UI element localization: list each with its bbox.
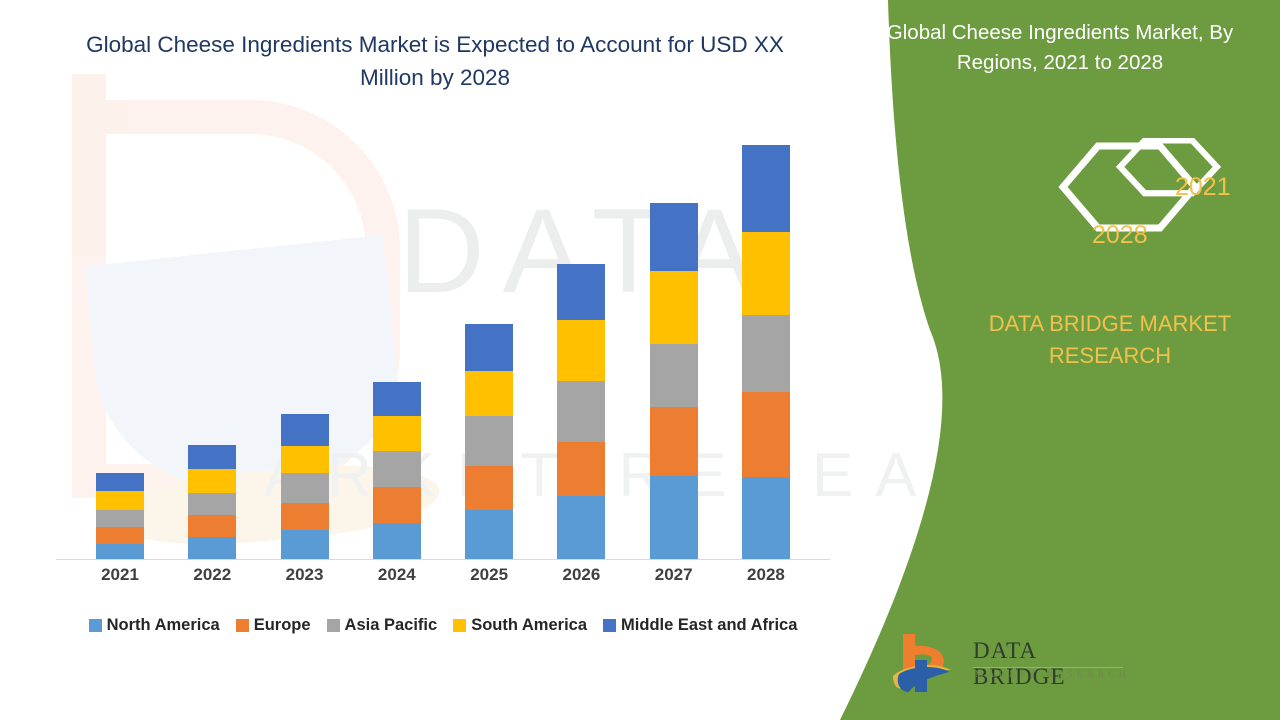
legend-label: Europe: [254, 616, 311, 635]
logo-subtitle: MARKET RESEARCH: [975, 670, 1130, 680]
bar-segment[interactable]: [281, 473, 329, 503]
bar-segment[interactable]: [373, 416, 421, 452]
x-axis-labels: 20212022202320242025202620272028: [48, 565, 838, 585]
bar-segment[interactable]: [465, 510, 513, 560]
bar-segment[interactable]: [650, 407, 698, 476]
stacked-bar[interactable]: [188, 445, 236, 560]
bar-segment[interactable]: [188, 469, 236, 493]
right-panel: Global Cheese Ingredients Market, By Reg…: [840, 0, 1280, 720]
bar-segment[interactable]: [465, 466, 513, 510]
bar-segment[interactable]: [96, 473, 144, 491]
x-axis-tick-2022: 2022: [168, 565, 256, 585]
legend-label: Asia Pacific: [345, 616, 438, 635]
bar-column: [445, 120, 533, 560]
bar-segment[interactable]: [281, 503, 329, 530]
legend-item[interactable]: South America: [453, 616, 587, 635]
stacked-bar[interactable]: [557, 264, 605, 560]
bar-segment[interactable]: [557, 442, 605, 495]
legend-item[interactable]: North America: [89, 616, 220, 635]
x-axis-tick-2023: 2023: [261, 565, 349, 585]
legend-swatch-icon: [327, 619, 340, 632]
bar-segment[interactable]: [557, 381, 605, 442]
bar-column: [722, 120, 810, 560]
legend-item[interactable]: Middle East and Africa: [603, 616, 797, 635]
chart-baseline: [56, 559, 830, 560]
bar-segment[interactable]: [465, 371, 513, 415]
stacked-bar[interactable]: [742, 145, 790, 560]
stacked-bar[interactable]: [373, 382, 421, 560]
bar-segment[interactable]: [373, 382, 421, 415]
legend-label: South America: [471, 616, 587, 635]
bar-segment[interactable]: [373, 523, 421, 560]
bar-column: [76, 120, 164, 560]
bar-segment[interactable]: [188, 537, 236, 560]
data-bridge-logo-icon: [885, 630, 965, 700]
bar-column: [353, 120, 441, 560]
x-axis-tick-2027: 2027: [630, 565, 718, 585]
logo-divider: [973, 667, 1123, 668]
bar-segment[interactable]: [281, 530, 329, 560]
bar-segment[interactable]: [373, 451, 421, 487]
bar-segment[interactable]: [650, 344, 698, 407]
brand-logo: DATA BRIDGE MARKET RESEARCH: [885, 630, 1135, 700]
bar-segment[interactable]: [557, 264, 605, 321]
bar-segment[interactable]: [742, 145, 790, 232]
brand-name: DATA BRIDGE MARKET RESEARCH: [950, 308, 1270, 372]
bar-segment[interactable]: [96, 544, 144, 560]
x-axis-tick-2028: 2028: [722, 565, 810, 585]
legend-item[interactable]: Asia Pacific: [327, 616, 438, 635]
chart-legend: North AmericaEuropeAsia PacificSouth Ame…: [48, 616, 838, 635]
bar-segment[interactable]: [557, 496, 605, 560]
bar-segment[interactable]: [96, 491, 144, 510]
chart-plot-area: [58, 120, 828, 560]
x-axis-tick-2026: 2026: [537, 565, 625, 585]
bar-segment[interactable]: [742, 315, 790, 393]
bar-segment[interactable]: [650, 271, 698, 343]
legend-item[interactable]: Europe: [236, 616, 311, 635]
legend-swatch-icon: [603, 619, 616, 632]
bar-segment[interactable]: [96, 527, 144, 545]
legend-swatch-icon: [89, 619, 102, 632]
legend-swatch-icon: [236, 619, 249, 632]
hexagon-badges: 2028 2021: [960, 138, 1260, 258]
bar-column: [261, 120, 349, 560]
panel-title: Global Cheese Ingredients Market, By Reg…: [860, 18, 1260, 78]
stacked-bar[interactable]: [465, 324, 513, 560]
logo-title: DATA BRIDGE: [973, 638, 1135, 690]
stacked-bar[interactable]: [96, 473, 144, 560]
x-axis-tick-2025: 2025: [445, 565, 533, 585]
stacked-bar[interactable]: [650, 203, 698, 560]
bar-segment[interactable]: [281, 414, 329, 446]
bar-segment[interactable]: [650, 203, 698, 272]
bar-segment[interactable]: [188, 445, 236, 469]
bar-segment[interactable]: [465, 324, 513, 372]
bar-segment[interactable]: [373, 487, 421, 524]
bar-segment[interactable]: [742, 232, 790, 315]
infographic-canvas: DATA MARKET RESEARCH Global Cheese Ingre…: [0, 0, 1280, 720]
bar-segment[interactable]: [742, 477, 790, 560]
page-title: Global Cheese Ingredients Market is Expe…: [60, 28, 810, 94]
hex-label-2028: 2028: [1092, 221, 1148, 250]
bar-segment[interactable]: [742, 392, 790, 476]
bar-segment[interactable]: [650, 476, 698, 560]
x-axis-tick-2024: 2024: [353, 565, 441, 585]
stacked-bar-chart: [48, 120, 838, 560]
bar-segment[interactable]: [188, 515, 236, 537]
bar-segment[interactable]: [465, 416, 513, 466]
bar-column: [630, 120, 718, 560]
legend-label: Middle East and Africa: [621, 616, 797, 635]
x-axis-tick-2021: 2021: [76, 565, 164, 585]
hex-label-2021: 2021: [1175, 173, 1231, 202]
legend-label: North America: [107, 616, 220, 635]
bar-column: [537, 120, 625, 560]
legend-swatch-icon: [453, 619, 466, 632]
stacked-bar[interactable]: [281, 414, 329, 560]
bar-segment[interactable]: [96, 510, 144, 527]
bar-segment[interactable]: [188, 493, 236, 514]
bar-segment[interactable]: [557, 320, 605, 381]
bar-segment[interactable]: [281, 446, 329, 474]
bar-column: [168, 120, 256, 560]
